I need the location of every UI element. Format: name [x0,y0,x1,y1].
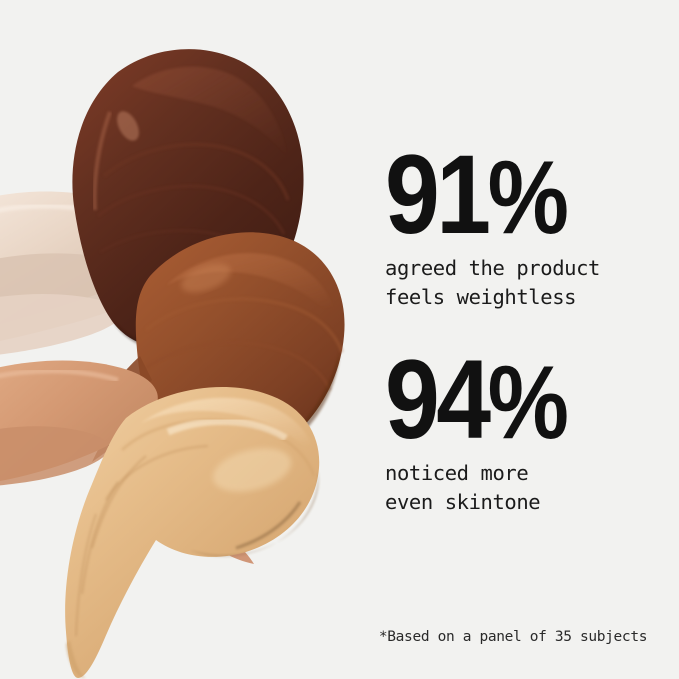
stat-block-94: 94% noticed more even skintone [385,351,679,517]
percent-symbol: % [488,140,568,256]
foundation-swatch-artwork [0,0,360,679]
stat-number: 94 [385,337,488,462]
percent-symbol: % [488,345,568,461]
stat-caption-94: noticed more even skintone [385,459,679,517]
footnote-disclaimer: *Based on a panel of 35 subjects [358,628,668,647]
stat-number: 91 [385,132,488,257]
stat-figure-91: 91% [385,146,644,245]
promo-graphic-canvas: 91% agreed the product feels weightless … [0,0,679,679]
statistics-column: 91% agreed the product feels weightless … [385,0,679,679]
stat-block-91: 91% agreed the product feels weightless [385,146,679,312]
stat-caption-91: agreed the product feels weightless [385,254,679,312]
stat-figure-94: 94% [385,351,644,450]
